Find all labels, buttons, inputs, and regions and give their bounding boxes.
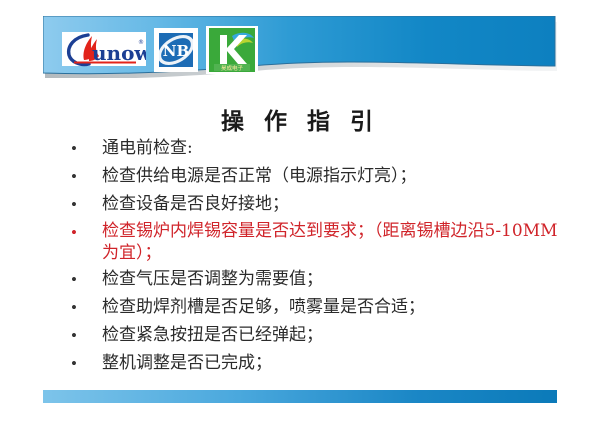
- list-item-text: 检查供给电源是否正常（电源指示灯亮）；: [102, 164, 562, 189]
- bullet-glyph-icon: •: [62, 295, 102, 320]
- list-item-text: 检查锡炉内焊锡容量是否达到要求；（距离锡槽边沿5-10MM为宜）；: [102, 220, 562, 264]
- svg-text:NB: NB: [163, 42, 189, 60]
- bullet-glyph-icon: •: [62, 220, 102, 245]
- logo-strip: unow ® NB: [62, 27, 258, 73]
- svg-text:昊成电子: 昊成电子: [221, 64, 244, 72]
- list-item-text: 检查紧急按扭是否已经弹起；: [102, 323, 562, 348]
- list-item-text: 检查气压是否调整为需要值；: [102, 267, 562, 292]
- list-item: • 检查气压是否调整为需要值；: [62, 267, 562, 292]
- bullet-glyph-icon: •: [62, 136, 102, 161]
- footer-bar: [43, 390, 557, 403]
- list-item-text: 通电前检查:: [102, 136, 562, 161]
- green-leaf-logo: 昊成电子: [206, 26, 258, 74]
- slide-canvas: unow ® NB: [0, 0, 600, 424]
- bullet-glyph-icon: •: [62, 351, 102, 376]
- bullet-list: • 通电前检查: • 检查供给电源是否正常（电源指示灯亮）； • 检查设备是否良…: [62, 136, 562, 379]
- list-item-text: 检查助焊剂槽是否足够，喷雾量是否合适；: [102, 295, 562, 320]
- page-title: 操 作 指 引: [0, 102, 600, 136]
- list-item: • 检查设备是否良好接地；: [62, 192, 562, 217]
- list-item: • 检查供给电源是否正常（电源指示灯亮）；: [62, 164, 562, 189]
- bullet-glyph-icon: •: [62, 164, 102, 189]
- svg-text:®: ®: [138, 39, 144, 46]
- bullet-glyph-icon: •: [62, 192, 102, 217]
- list-item: • 通电前检查:: [62, 136, 562, 161]
- unow-logo: unow ®: [62, 30, 146, 70]
- list-item: • 整机调整是否已完成；: [62, 351, 562, 376]
- bullet-glyph-icon: •: [62, 267, 102, 292]
- list-item: • 检查助焊剂槽是否足够，喷雾量是否合适；: [62, 295, 562, 320]
- nb-logo: NB: [154, 28, 198, 72]
- list-item-highlighted: • 检查锡炉内焊锡容量是否达到要求；（距离锡槽边沿5-10MM为宜）；: [62, 220, 562, 264]
- list-item: • 检查紧急按扭是否已经弹起；: [62, 323, 562, 348]
- bullet-glyph-icon: •: [62, 323, 102, 348]
- list-item-text: 检查设备是否良好接地；: [102, 192, 562, 217]
- list-item-text: 整机调整是否已完成；: [102, 351, 562, 376]
